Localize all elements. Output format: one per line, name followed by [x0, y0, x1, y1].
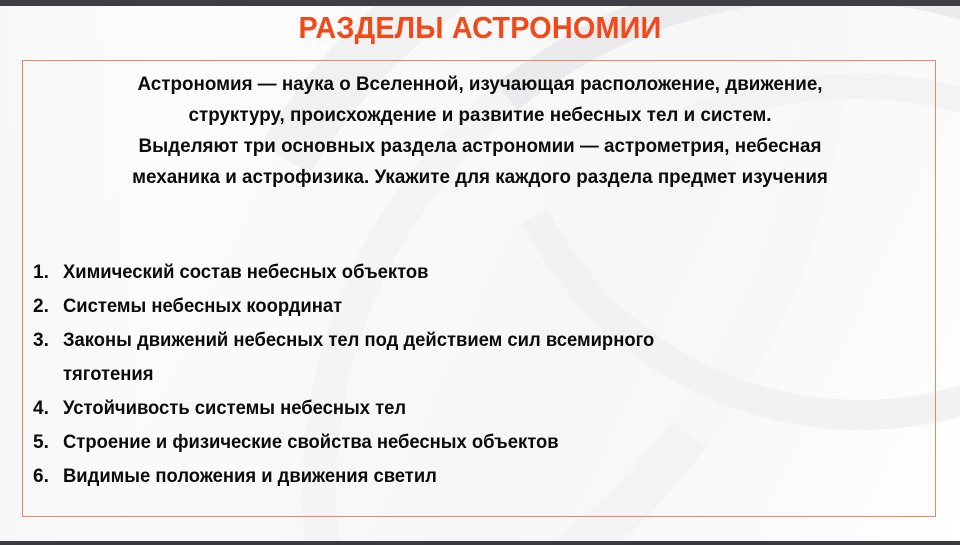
slide-canvas: РАЗДЕЛЫ АСТРОНОМИИ Астрономия — наука о …: [0, 0, 960, 545]
list-item-number: 5.: [33, 426, 63, 460]
content-frame: Астрономия — наука о Вселенной, изучающа…: [22, 60, 936, 517]
list-item-number: 4.: [33, 392, 63, 426]
list-item-label: Законы движений небесных тел под действи…: [63, 324, 888, 392]
intro-line: Астрономия — наука о Вселенной, изучающа…: [49, 69, 912, 100]
list-item-label: Химический состав небесных объектов: [63, 256, 888, 290]
intro-line: структуру, происхождение и развитие небе…: [49, 100, 912, 131]
intro-line: механика и астрофизика. Укажите для кажд…: [49, 162, 912, 193]
intro-paragraph: Астрономия — наука о Вселенной, изучающа…: [49, 69, 912, 193]
list-item-label: Видимые положения и движения светил: [63, 460, 888, 494]
top-accent-strip: [0, 0, 960, 6]
list-item-number: 2.: [33, 290, 63, 324]
list-item-label: Строение и физические свойства небесных …: [63, 426, 888, 460]
list-item-continuation: тяготения: [63, 358, 888, 392]
intro-line: Выделяют три основных раздела астрономии…: [49, 131, 912, 162]
numbered-list: 1. Химический состав небесных объектов 2…: [33, 256, 913, 494]
page-title: РАЗДЕЛЫ АСТРОНОМИИ: [34, 10, 927, 46]
list-item: 4. Устойчивость системы небесных тел: [33, 392, 913, 426]
list-item: 3. Законы движений небесных тел под дейс…: [33, 324, 913, 392]
list-item: 6. Видимые положения и движения светил: [33, 460, 913, 494]
list-item-label: Системы небесных координат: [63, 290, 888, 324]
list-item: 2. Системы небесных координат: [33, 290, 913, 324]
list-item: 1. Химический состав небесных объектов: [33, 256, 913, 290]
list-item-number: 3.: [33, 324, 63, 358]
bottom-accent-strip: [0, 541, 960, 545]
list-item-number: 6.: [33, 460, 63, 494]
list-item-line: Законы движений небесных тел под действи…: [63, 330, 654, 351]
list-item-number: 1.: [33, 256, 63, 290]
list-item: 5. Строение и физические свойства небесн…: [33, 426, 913, 460]
list-item-label: Устойчивость системы небесных тел: [63, 392, 888, 426]
